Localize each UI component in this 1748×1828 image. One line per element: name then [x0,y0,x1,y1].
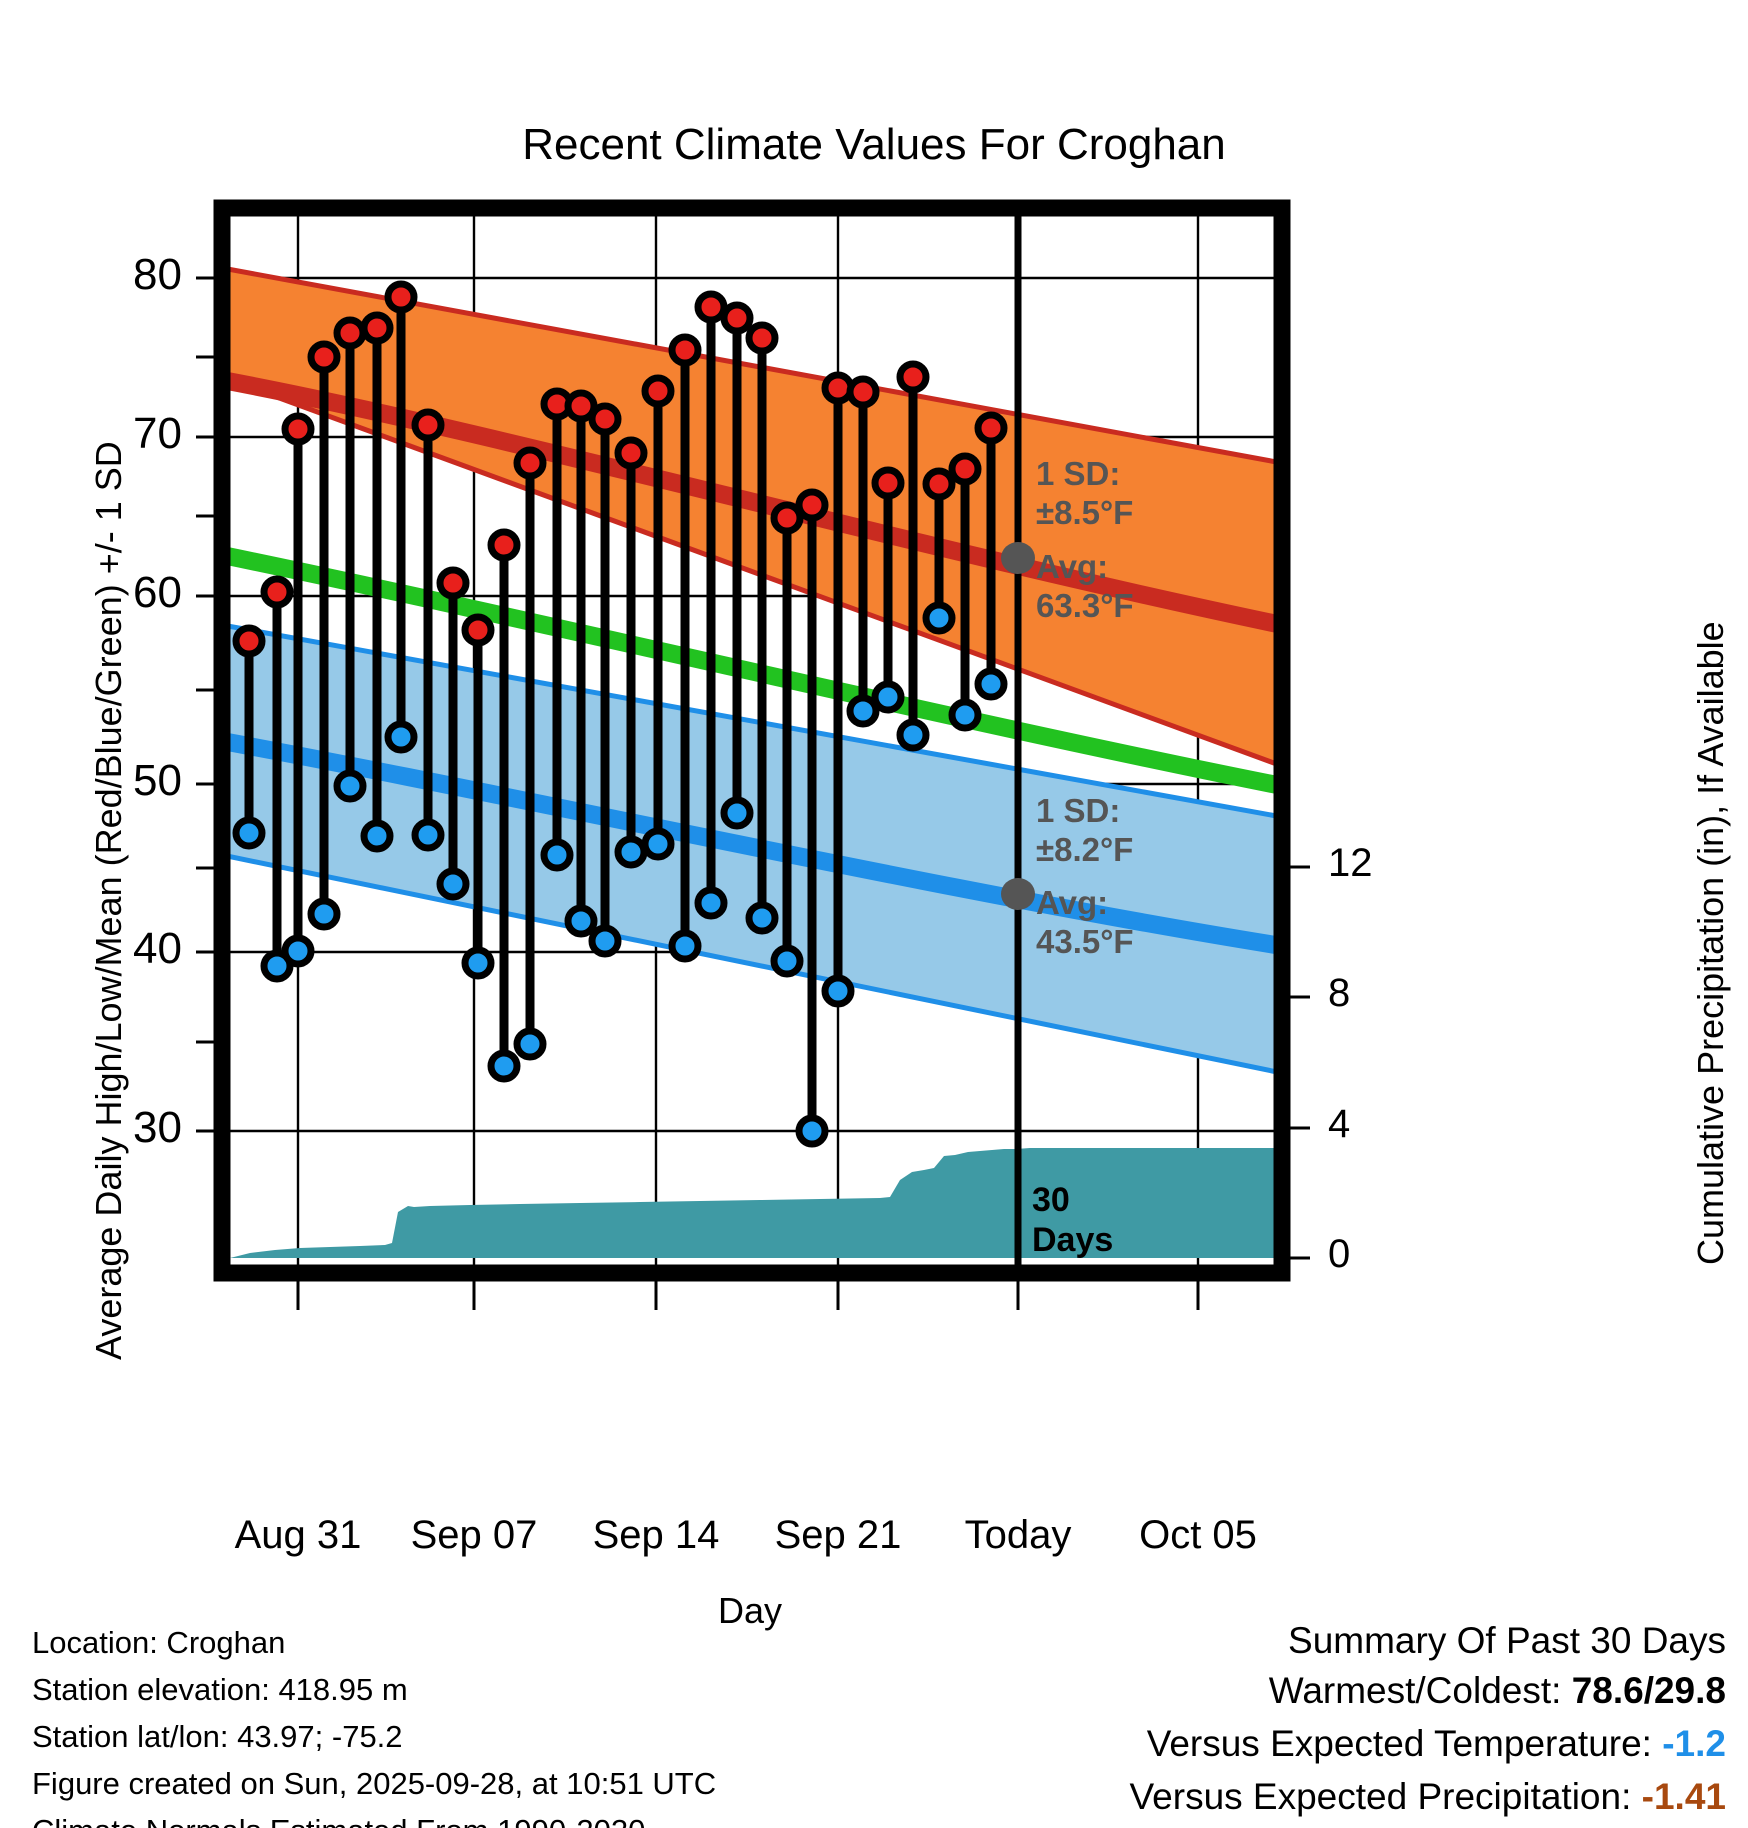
y-axis-right-title: Cumulative Precipitation (in), If Availa… [1690,621,1732,1265]
high-avg-line2: 63.3°F [1036,587,1134,626]
footer-created: Figure created on Sun, 2025-09-28, at 10… [32,1766,716,1802]
low-sd-annotation: 1 SD: ±8.2°F [1036,792,1133,870]
precip-days-annotation: 30 Days [1032,1180,1113,1260]
summary-vs-temp-value: -1.2 [1662,1723,1726,1764]
low-avg-line2: 43.5°F [1036,923,1134,962]
high-sd-line2: ±8.5°F [1036,494,1133,533]
summary-vs-temp: Versus Expected Temperature: -1.2 [1147,1723,1726,1765]
high-avg-annotation: Avg: 63.3°F [1036,548,1134,626]
climate-chart-figure: Recent Climate Values For Croghan [0,0,1748,1828]
y2tick-label-0: 0 [1328,1232,1350,1277]
summary-vs-temp-label: Versus Expected Temperature: [1147,1723,1663,1764]
ytick-label-80: 80 [70,250,182,300]
summary-heading: Summary Of Past 30 Days [1288,1620,1726,1662]
low-sd-line1: 1 SD: [1036,792,1133,831]
xtick-label-oct-05: Oct 05 [1068,1513,1328,1558]
low-avg-annotation: Avg: 43.5°F [1036,884,1134,962]
summary-vs-precip-value: -1.41 [1642,1776,1726,1817]
y2tick-label-4: 4 [1328,1102,1350,1147]
low-sd-line2: ±8.2°F [1036,831,1133,870]
summary-warmest-coldest-value: 78.6/29.8 [1572,1670,1726,1711]
today-high-avg-dot [1001,542,1035,574]
low-avg-line1: Avg: [1036,884,1134,923]
footer-latlon: Station lat/lon: 43.97; -75.2 [32,1719,403,1755]
high-avg-line1: Avg: [1036,548,1134,587]
high-sd-line1: 1 SD: [1036,455,1133,494]
footer-location: Location: Croghan [32,1625,285,1661]
today-low-avg-dot [1001,878,1035,910]
precip-days-line1: 30 [1032,1180,1113,1220]
high-sd-annotation: 1 SD: ±8.5°F [1036,455,1133,533]
footer-elevation: Station elevation: 418.95 m [32,1672,408,1708]
precip-days-line2: Days [1032,1220,1113,1260]
y-axis-left-title: Average Daily High/Low/Mean (Red/Blue/Gr… [88,441,130,1360]
summary-vs-precip-label: Versus Expected Precipitation: [1130,1776,1642,1817]
summary-vs-precip: Versus Expected Precipitation: -1.41 [1130,1776,1726,1818]
y2tick-label-12: 12 [1328,841,1373,886]
summary-warmest-coldest-label: Warmest/Coldest: [1269,1670,1572,1711]
footer-normals: Climate Normals Estimated From 1990-2020 [32,1813,645,1828]
y2tick-label-8: 8 [1328,971,1350,1016]
summary-warmest-coldest: Warmest/Coldest: 78.6/29.8 [1269,1670,1726,1712]
